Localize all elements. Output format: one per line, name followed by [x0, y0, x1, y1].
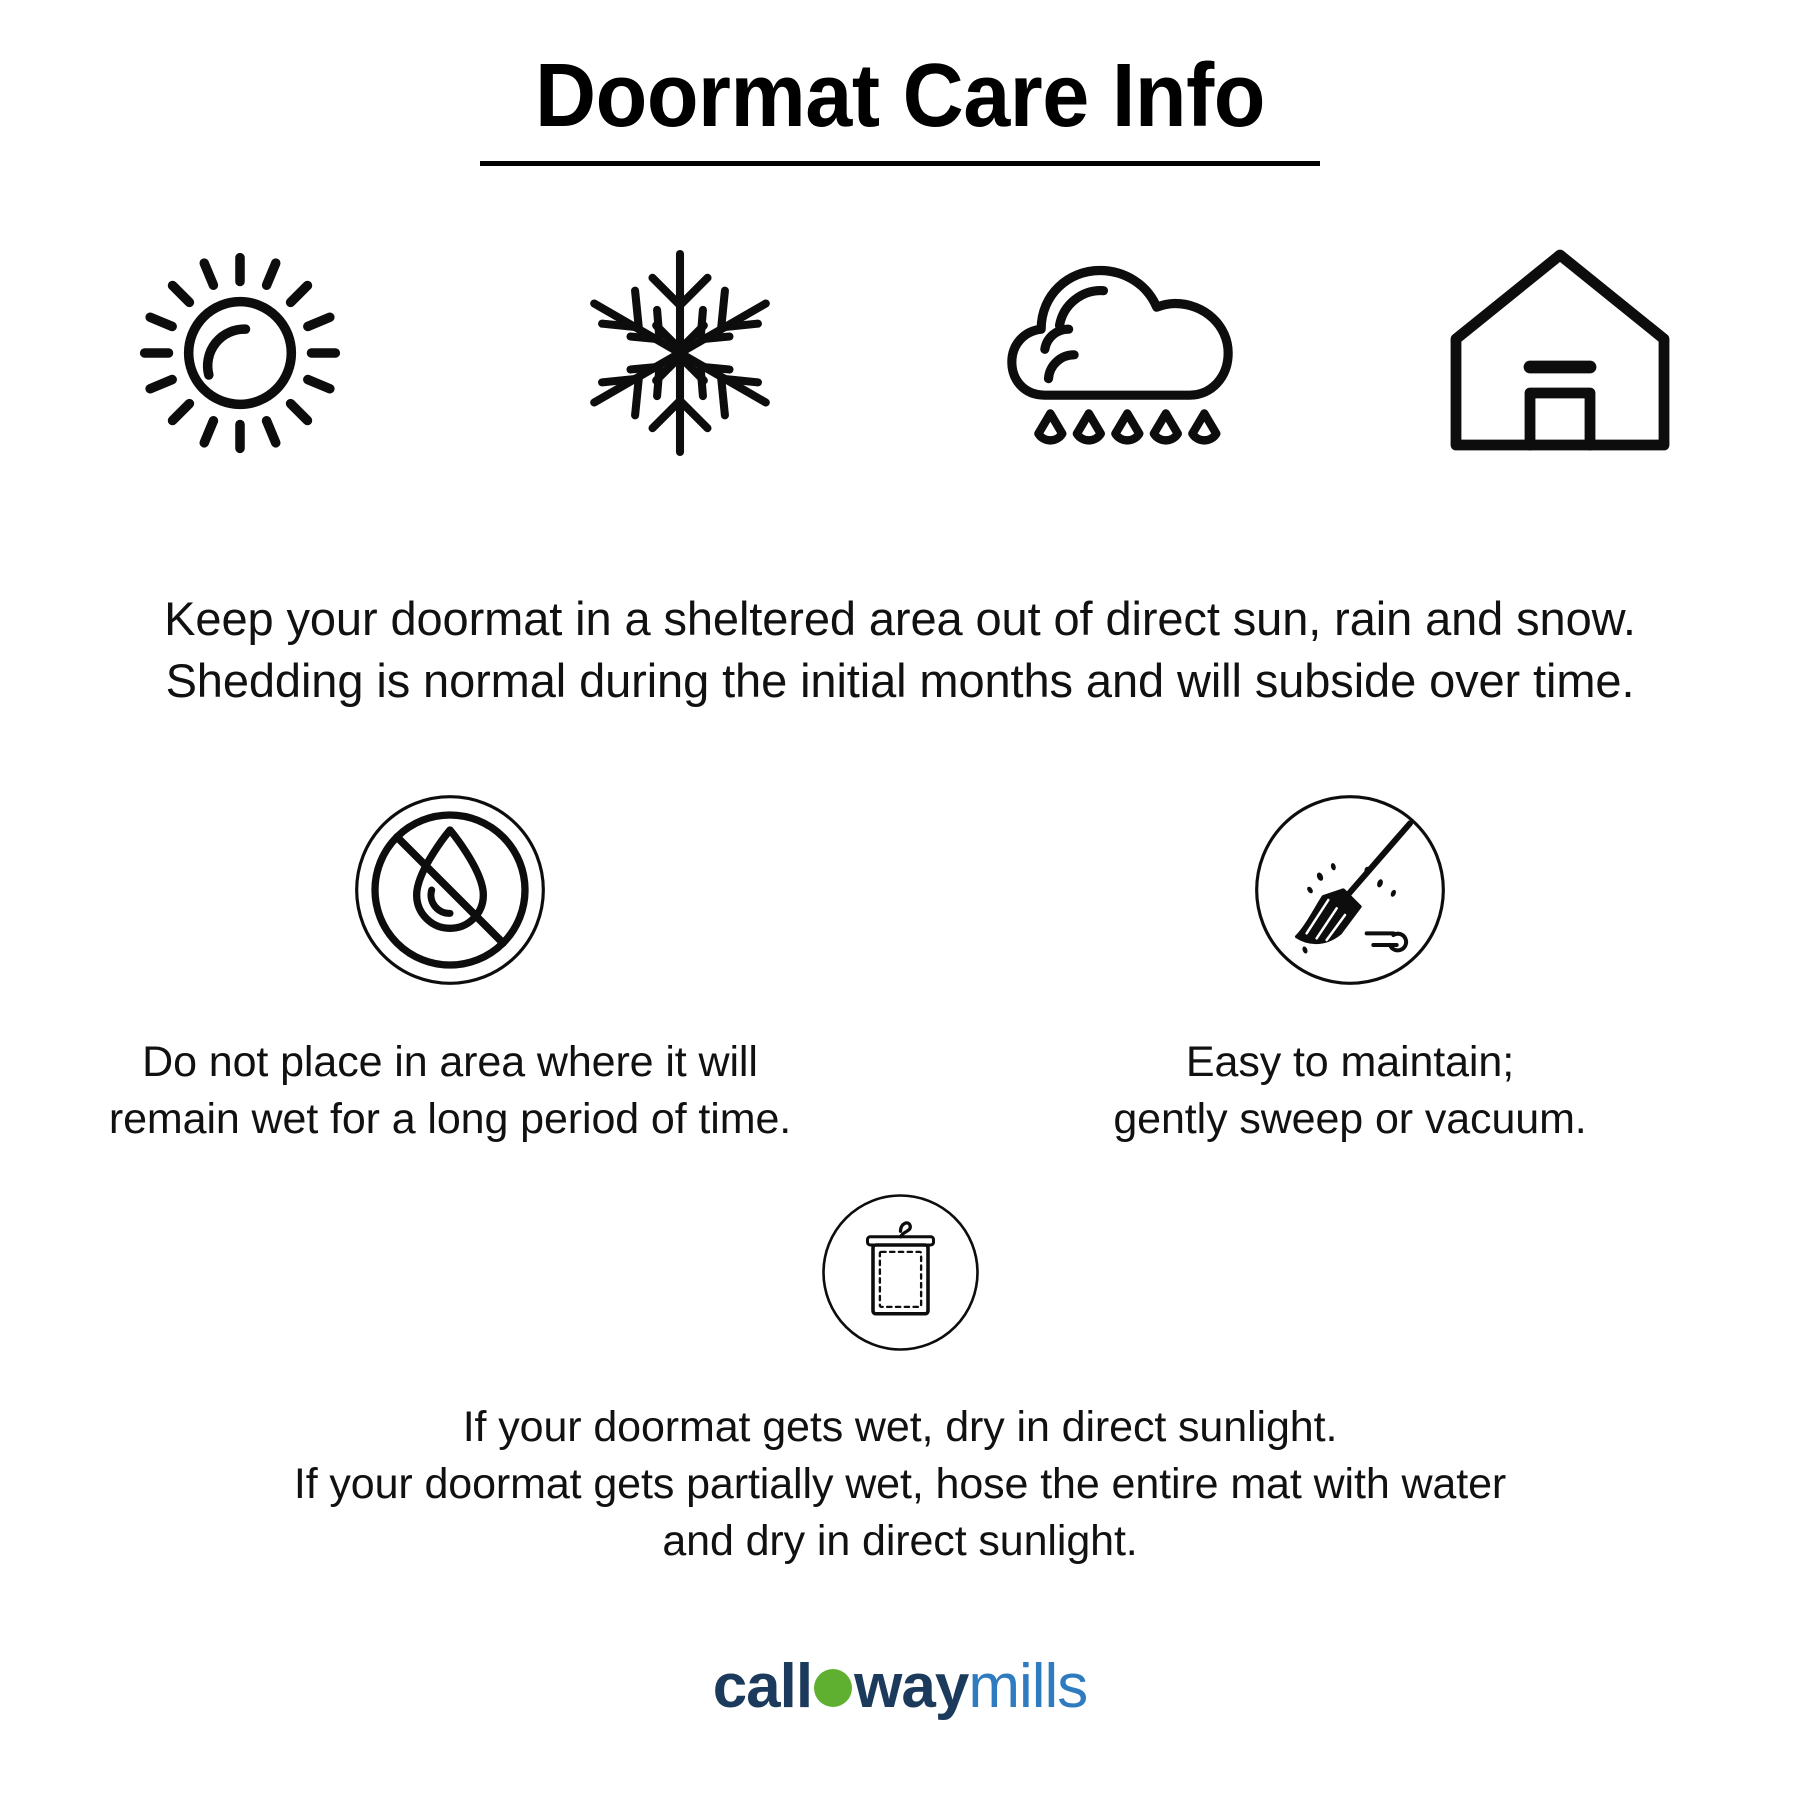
care-cards-row: Do not place in area where it will remai… — [0, 790, 1800, 1148]
page-title: Doormat Care Info — [54, 48, 1746, 145]
caption-line-1: Easy to maintain; — [1113, 1034, 1586, 1091]
caption-line-2: If your doormat gets partially wet, hose… — [294, 1456, 1506, 1513]
snowflake-icon — [565, 243, 795, 463]
card-hang-dry: If your doormat gets wet, dry in direct … — [0, 1190, 1800, 1571]
caption-line-1: If your doormat gets wet, dry in direct … — [294, 1399, 1506, 1456]
hang-dry-icon — [818, 1190, 983, 1355]
rain-cloud-icon — [1000, 243, 1240, 463]
sun-icon-cell — [120, 238, 360, 468]
logo-mills: mills — [968, 1651, 1087, 1722]
caption-line-2: gently sweep or vacuum. — [1113, 1091, 1586, 1148]
caption-line-1: Do not place in area where it will — [109, 1034, 791, 1091]
intro-line-1: Keep your doormat in a sheltered area ou… — [60, 588, 1740, 650]
title-block: Doormat Care Info — [0, 48, 1800, 166]
logo-calloway-part1: call — [713, 1651, 812, 1722]
card-no-water: Do not place in area where it will remai… — [0, 790, 900, 1148]
caption-line-3: and dry in direct sunlight. — [294, 1513, 1506, 1570]
house-icon-cell — [1440, 238, 1680, 468]
card-no-water-caption: Do not place in area where it will remai… — [109, 1034, 791, 1148]
logo-green-dot-icon — [814, 1669, 852, 1707]
house-icon — [1440, 243, 1680, 463]
caption-line-2: remain wet for a long period of time. — [109, 1091, 791, 1148]
card-hang-dry-caption: If your doormat gets wet, dry in direct … — [294, 1399, 1506, 1571]
brand-logo: call way mills — [0, 1651, 1800, 1722]
weather-icon-row — [120, 238, 1680, 468]
title-underline-rule — [480, 161, 1320, 166]
snowflake-icon-cell — [560, 238, 800, 468]
card-sweep-caption: Easy to maintain; gently sweep or vacuum… — [1113, 1034, 1586, 1148]
rain-cloud-icon-cell — [1000, 238, 1240, 468]
intro-paragraph: Keep your doormat in a sheltered area ou… — [60, 588, 1740, 712]
intro-line-2: Shedding is normal during the initial mo… — [60, 650, 1740, 712]
broom-sweep-icon — [1250, 790, 1450, 990]
no-water-icon — [350, 790, 550, 990]
card-sweep: Easy to maintain; gently sweep or vacuum… — [900, 790, 1800, 1148]
logo-calloway-part2: way — [854, 1651, 968, 1722]
doormat-care-info-page: Doormat Care Info — [0, 0, 1800, 1800]
sun-icon — [125, 243, 355, 463]
